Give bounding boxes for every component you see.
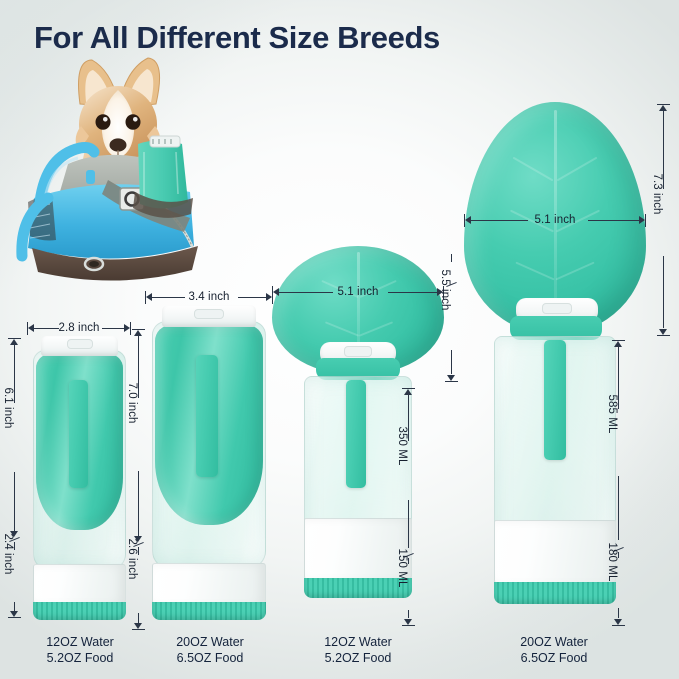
bottle-2-food-cup <box>152 563 266 607</box>
dim-bottle1-left-base: 2.4 inch <box>6 540 22 618</box>
carrier-illustration <box>8 52 218 292</box>
dim-bottle3-bowl-height: 5.5 inch <box>443 254 459 382</box>
bottle-4-lid-nub <box>542 303 572 314</box>
bottle-4-clip <box>544 340 566 460</box>
bottle-1-lid-nub <box>67 339 93 349</box>
dim-bottle1-left-total: 6.1 inch <box>6 338 22 538</box>
dog-in-carrier-photo <box>8 52 218 292</box>
dim-bottle1-right-base: 2.6 inch <box>130 545 146 630</box>
dim-bottle1-right-total: 7.0 inch <box>130 329 146 543</box>
dim-bottle3-water-volume: 350 ML <box>400 388 416 554</box>
dim-bottle3-width: 5.1 inch <box>272 284 444 300</box>
bottle-1 <box>33 336 126 620</box>
dim-bottle4-food-volume: 180 ML <box>610 550 626 626</box>
bottle-1-base-ring <box>33 602 126 620</box>
bottle-2-caption: 20OZ Water 6.5OZ Food <box>176 634 244 666</box>
bottle-1-clip <box>69 380 88 488</box>
bottle-3-lid-nub <box>344 346 372 357</box>
bottle-4-caption: 20OZ Water 6.5OZ Food <box>520 634 588 666</box>
bottle-3-clip <box>346 380 366 488</box>
dim-bottle4-water-volume: 585 ML <box>610 340 626 548</box>
infographic-canvas: For All Different Size Breeds <box>0 0 679 679</box>
bottle-4-food-cup <box>494 520 616 586</box>
bottle-2-lid-nub <box>194 309 224 319</box>
bottle-1-caption: 12OZ Water 5.2OZ Food <box>46 634 114 666</box>
dim-bottle3-food-volume: 150 ML <box>400 556 416 626</box>
dim-bottle2-width: 3.4 inch <box>145 289 273 305</box>
bottle-3-caption: 12OZ Water 5.2OZ Food <box>324 634 392 666</box>
bottle-1-food-cup <box>33 564 126 606</box>
bottle-2 <box>152 305 266 620</box>
bottle-3 <box>272 246 444 620</box>
page-title: For All Different Size Breeds <box>34 20 440 56</box>
bottle-4-base-ring <box>494 582 616 604</box>
bottle-3-bowl-vein-mid <box>357 252 360 356</box>
dim-bottle1-width: 2.8 inch <box>27 320 131 336</box>
bottle-2-clip <box>196 355 218 477</box>
dim-bottle4-bowl-height: 7.3 inch <box>655 104 671 336</box>
dim-bottle4-width: 5.1 inch <box>464 212 646 228</box>
bottle-2-base-ring <box>152 602 266 620</box>
